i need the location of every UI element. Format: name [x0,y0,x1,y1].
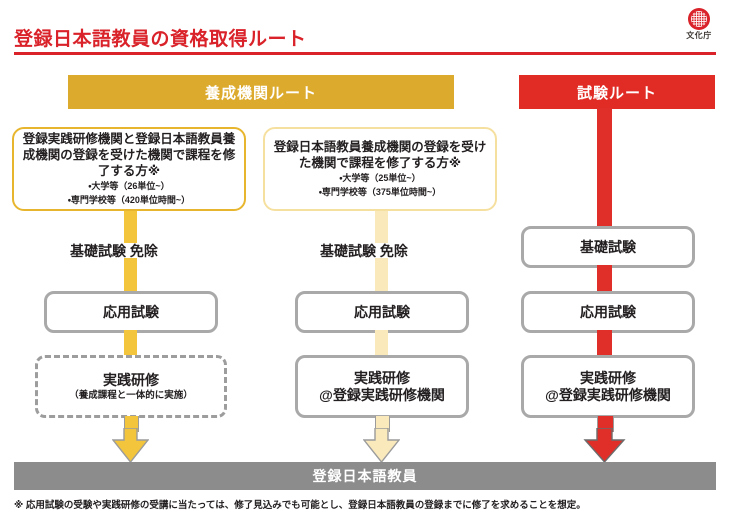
flow-arrowhead-col-2 [363,428,400,464]
node-label: 応用試験 [354,304,410,321]
node-basic-exam-col-3: 基礎試験 [521,226,695,268]
criteria-bullet-vocational: ・専門学校等（375単位時間~） [319,187,441,199]
node-label: 応用試験 [103,304,159,321]
route-header-label: 養成機関ルート [205,82,317,103]
agency-emblem-icon [688,8,710,30]
criteria-main-text: 登録実践研修機関と登録日本語教員養成機関の登録を受けた機関で課程を修了する方※ [20,131,238,179]
criteria-bullet-university: ・大学等（26単位~） [88,181,169,193]
route-header-label: 試験ルート [577,82,657,103]
outcome-bar: 登録日本語教員 [14,462,716,490]
agency-logo-text: 文化庁 [686,32,712,40]
flow-shaft-col1-b [124,258,137,294]
footnote: ※ 応用試験の受験や実践研修の受講に当たっては、修了見込みでも可能とし、登録日本… [14,500,726,512]
flow-arrowhead-col-1 [112,428,149,464]
node-label: 実践研修 [354,370,410,387]
criteria-bullet-university: ・大学等（25単位~） [339,173,420,185]
node-label: 実践研修 [580,370,636,387]
node-practical-training-col-3: 実践研修 @登録実践研修機関 [521,355,695,418]
criteria-main-text: 登録日本語教員養成機関の登録を受けた機関で課程を修了する方※ [271,139,489,171]
node-practical-training-col-1: 実践研修 （養成課程と一体的に実施） [35,355,227,418]
node-applied-exam-col-3: 応用試験 [521,291,695,333]
flow-shaft-col2-b [375,258,388,294]
node-sublabel: @登録実践研修機関 [319,387,445,404]
flow-shaft-col1-a [124,211,137,243]
node-applied-exam-col-1: 応用試験 [44,291,218,333]
node-label: 実践研修 [103,372,159,389]
node-applied-exam-col-2: 応用試験 [295,291,469,333]
node-sublabel: @登録実践研修機関 [545,387,671,404]
route-header-examination: 試験ルート [519,75,715,109]
flow-arrowhead-col-3 [583,428,626,464]
node-sublabel: （養成課程と一体的に実施） [69,390,193,401]
node-practical-training-col-2: 実践研修 @登録実践研修機関 [295,355,469,418]
node-label: 応用試験 [580,304,636,321]
title-divider [14,52,716,55]
node-label: 基礎試験 [580,239,636,256]
basic-exam-exempt-col-1: 基礎試験 免除 [70,241,158,261]
route-header-training-institution: 養成機関ルート [68,75,454,109]
outcome-label: 登録日本語教員 [313,466,418,486]
diagram-canvas: 登録日本語教員の資格取得ルート 文化庁 養成機関ルート 試験ルート 登録実践研修… [0,0,740,527]
criteria-bullet-vocational: ・専門学校等（420単位時間~） [68,195,190,207]
basic-exam-exempt-col-2: 基礎試験 免除 [320,241,408,261]
flow-shaft-col2-a [375,211,388,243]
criteria-box-col-2: 登録日本語教員養成機関の登録を受けた機関で課程を修了する方※ ・大学等（25単位… [263,127,497,211]
flow-shaft-col3-a [597,108,612,228]
agency-logo: 文化庁 [676,8,722,52]
page-title: 登録日本語教員の資格取得ルート [14,24,307,51]
criteria-box-col-1: 登録実践研修機関と登録日本語教員養成機関の登録を受けた機関で課程を修了する方※ … [12,127,246,211]
